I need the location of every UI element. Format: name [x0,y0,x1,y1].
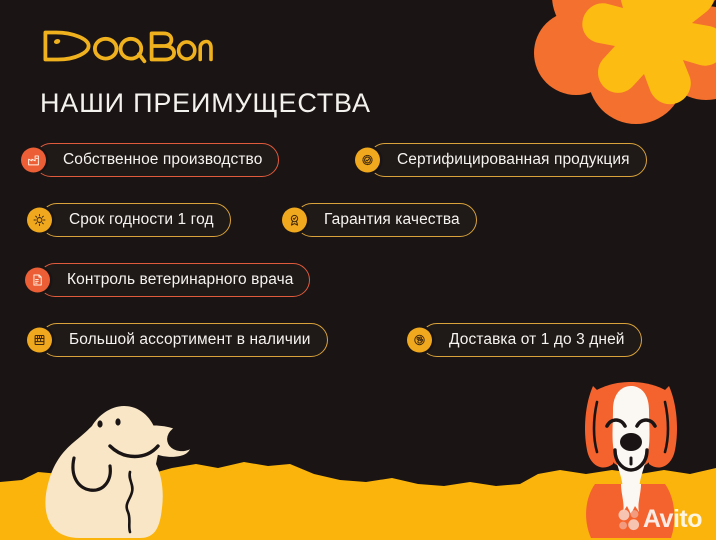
badge-row: Контроль ветеринарного врача [0,263,716,323]
badge-quality-guarantee[interactable]: Гарантия качества [295,203,477,237]
shelf-assortment-icon [27,328,52,353]
brand-logo[interactable] [38,28,213,64]
badge-label: Доставка от 1 до 3 дней [449,332,625,348]
badge-label: Контроль ветеринарного врача [67,272,293,288]
flower-decoration-icon [528,0,716,138]
advantages-list: Собственное производство Сертифицированн… [0,143,716,383]
certificate-seal-icon [355,148,380,173]
medical-document-icon [25,268,50,293]
page-title: НАШИ ПРЕИМУЩЕСТВА [40,88,371,119]
badge-row: Большой ассортимент в наличии Доставка о… [0,323,716,383]
badge-label: Срок годности 1 год [69,212,214,228]
factory-icon [21,148,46,173]
dog-illustration-left [28,380,213,540]
badge-delivery-time[interactable]: Доставка от 1 до 3 дней [420,323,642,357]
award-medal-icon [282,208,307,233]
badge-certified-products[interactable]: Сертифицированная продукция [368,143,647,177]
badge-own-production[interactable]: Собственное производство [34,143,279,177]
badge-label: Собственное производство [63,152,262,168]
dog-head-letter-d-icon [45,33,88,60]
dog-illustration-right [563,380,698,540]
badge-row: Срок годности 1 год Гарантия качества [0,203,716,263]
badge-label: Гарантия качества [324,212,460,228]
advantages-poster: НАШИ ПРЕИМУЩЕСТВА Собственное производст… [0,0,716,540]
badge-wide-assortment[interactable]: Большой ассортимент в наличии [40,323,328,357]
badge-vet-control[interactable]: Контроль ветеринарного врача [38,263,310,297]
badge-label: Сертифицированная продукция [397,152,630,168]
badge-label: Большой ассортимент в наличии [69,332,311,348]
delivery-paw-icon [407,328,432,353]
badge-shelf-life[interactable]: Срок годности 1 год [40,203,231,237]
sun-freshness-icon [27,208,52,233]
badge-row: Собственное производство Сертифицированн… [0,143,716,203]
